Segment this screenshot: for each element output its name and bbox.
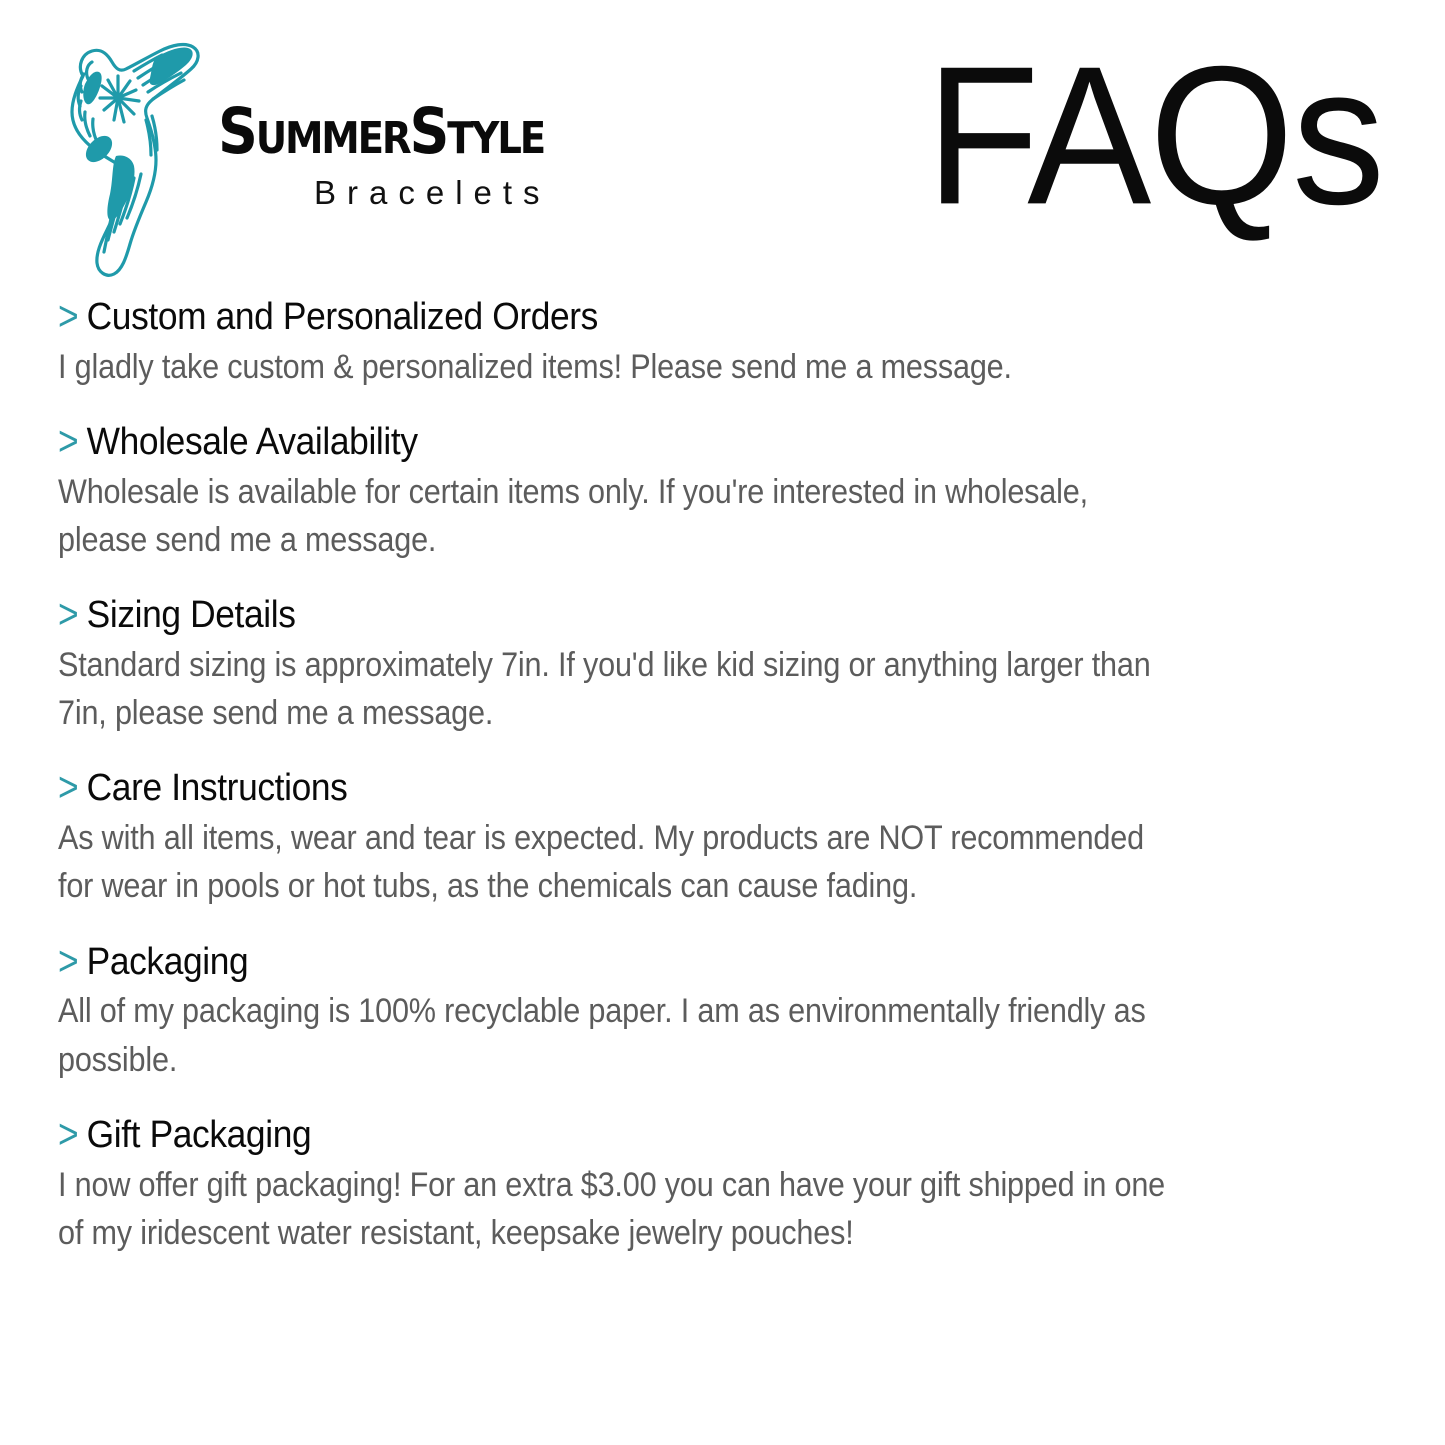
faq-body: I gladly take custom & personalized item… (58, 343, 1075, 391)
chevron-right-icon: > (58, 767, 78, 809)
faq-heading: > Wholesale Availability (58, 421, 1208, 465)
faq-body: All of my packaging is 100% recyclable p… (58, 987, 1171, 1084)
faq-body: Standard sizing is approximately 7in. If… (58, 641, 1171, 738)
brand-subtitle: Bracelets (314, 174, 588, 212)
faq-heading-label: Custom and Personalized Orders (87, 296, 598, 340)
faq-item-custom-orders: > Custom and Personalized Orders I gladl… (58, 296, 1295, 391)
faq-list: > Custom and Personalized Orders I gladl… (58, 296, 1295, 1257)
chevron-right-icon: > (58, 941, 78, 983)
brand-lockup: SummerStyle Bracelets (52, 22, 588, 287)
starfish-icon (52, 24, 212, 289)
faq-heading: > Sizing Details (58, 594, 1208, 638)
faq-heading-label: Packaging (87, 941, 249, 985)
faq-heading-label: Care Instructions (87, 767, 348, 811)
brand-wordmark: SummerStyle (218, 102, 544, 162)
faq-item-sizing: > Sizing Details Standard sizing is appr… (58, 594, 1295, 737)
faq-heading-label: Sizing Details (87, 594, 296, 638)
brand-text: SummerStyle Bracelets (218, 22, 588, 212)
faq-heading: > Custom and Personalized Orders (58, 296, 1208, 340)
faq-item-packaging: > Packaging All of my packaging is 100% … (58, 941, 1295, 1084)
faq-body: I now offer gift packaging! For an extra… (58, 1161, 1171, 1258)
faq-heading: > Packaging (58, 941, 1208, 985)
faq-item-wholesale: > Wholesale Availability Wholesale is av… (58, 421, 1295, 564)
faq-item-care: > Care Instructions As with all items, w… (58, 767, 1295, 910)
chevron-right-icon: > (58, 594, 78, 636)
faq-item-gift-packaging: > Gift Packaging I now offer gift packag… (58, 1114, 1295, 1257)
faq-heading: > Gift Packaging (58, 1114, 1208, 1158)
chevron-right-icon: > (58, 296, 78, 338)
faq-heading: > Care Instructions (58, 767, 1208, 811)
chevron-right-icon: > (58, 421, 78, 463)
page-header: SummerStyle Bracelets FAQs (0, 0, 1445, 290)
chevron-right-icon: > (58, 1114, 78, 1156)
faq-heading-label: Gift Packaging (87, 1114, 312, 1158)
faq-body: As with all items, wear and tear is expe… (58, 814, 1171, 911)
faq-heading-label: Wholesale Availability (87, 421, 418, 465)
page-title: FAQs (926, 38, 1383, 235)
faq-body: Wholesale is available for certain items… (58, 468, 1171, 565)
